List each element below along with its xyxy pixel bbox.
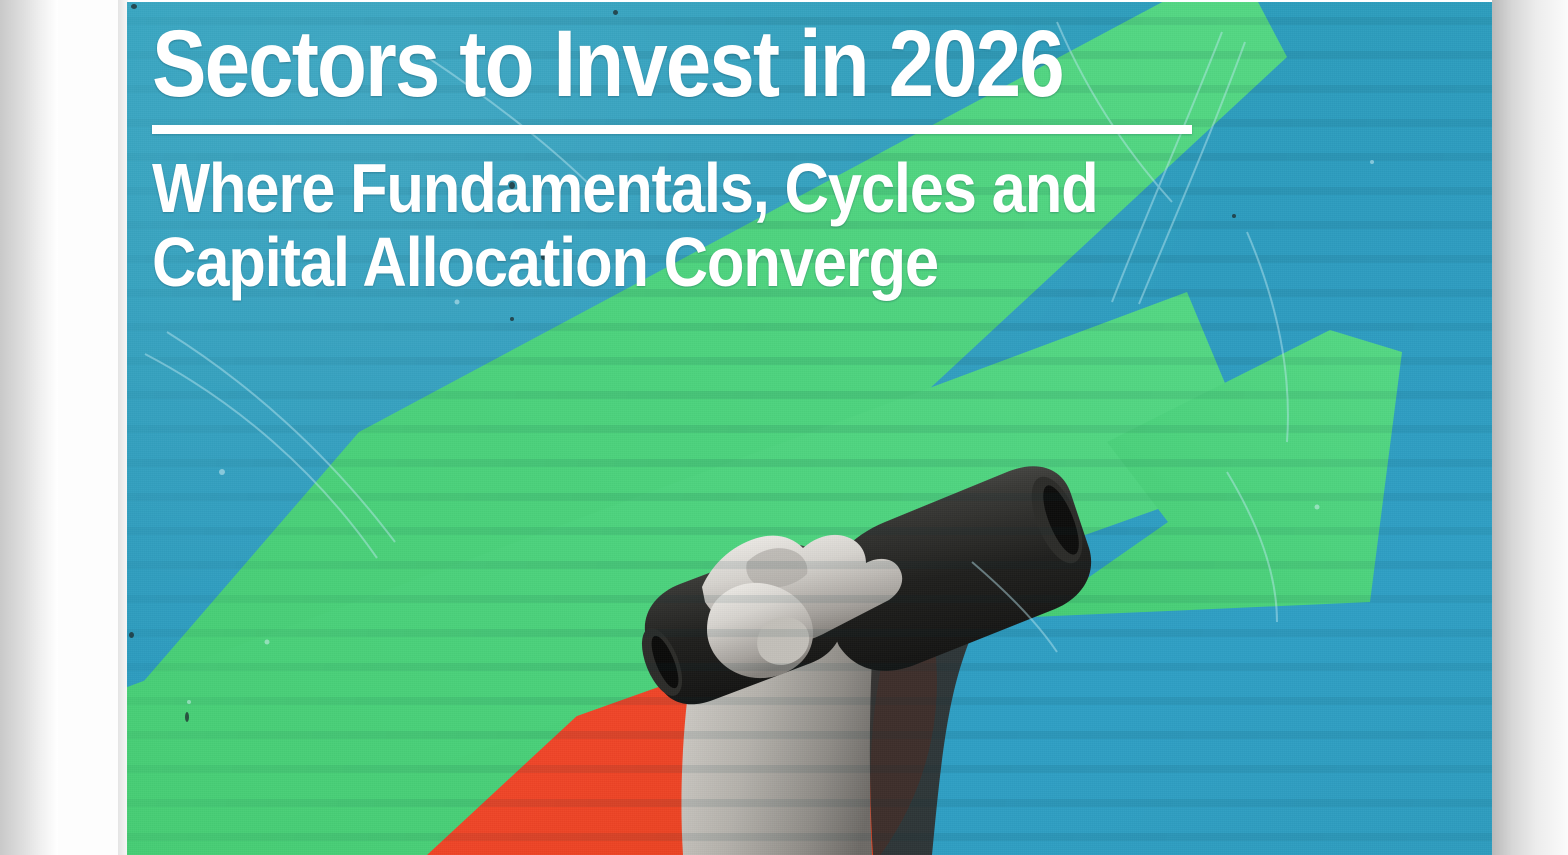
ink-speck [185, 712, 189, 722]
page-subtitle: Where Fundamentals, Cycles and Capital A… [152, 151, 1208, 299]
scanned-magazine-page: Sectors to Invest in 2026 Where Fundamen… [0, 0, 1568, 855]
ink-speck [131, 4, 137, 9]
ink-speck [129, 632, 134, 638]
subtitle-line-2: Capital Allocation Converge [152, 225, 1208, 299]
page-title: Sectors to Invest in 2026 [152, 18, 1184, 111]
title-underline-rule [152, 125, 1192, 134]
scanner-shadow-left [0, 0, 58, 855]
ink-speck [510, 317, 514, 321]
scanner-shadow-right [1492, 0, 1568, 855]
printed-artwork-plate: Sectors to Invest in 2026 Where Fundamen… [127, 2, 1492, 855]
subtitle-line-1: Where Fundamentals, Cycles and [152, 151, 1208, 225]
headline-block: Sectors to Invest in 2026 Where Fundamen… [152, 18, 1352, 299]
